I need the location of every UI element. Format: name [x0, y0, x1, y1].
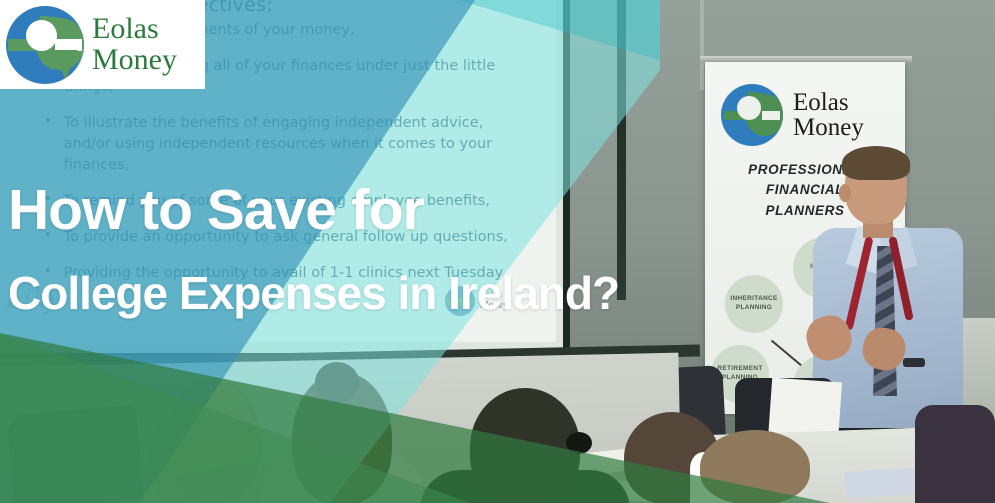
hero-headline-line2: College Expenses in Ireland?	[8, 270, 619, 316]
presentation-hero-image: y - Objectives: • l tips for all 10 elem…	[0, 0, 995, 503]
eolas-money-wordmark: Eolas Money	[92, 14, 177, 75]
banner-brand-name: Eolas Money	[793, 90, 864, 140]
banner-logo: Eolas Money	[705, 62, 905, 146]
eolas-money-logo-icon	[721, 84, 783, 146]
brand-name-line2: Money	[92, 45, 177, 76]
eolas-money-logo-icon	[6, 6, 84, 84]
office-chair	[915, 405, 995, 503]
diagram-node-inheritance: INHERITANCE PLANNING	[725, 275, 783, 333]
banner-brand-line1: Eolas	[793, 90, 864, 115]
banner-brand-line2: Money	[793, 115, 864, 140]
eolas-money-logo-block[interactable]: Eolas Money	[0, 0, 205, 89]
paper-sheet	[844, 468, 915, 498]
brand-name-line1: Eolas	[92, 14, 177, 45]
hero-headline-line1: How to Save for	[8, 182, 619, 239]
wall-seam-secondary	[700, 0, 704, 90]
hero-headline: How to Save for College Expenses in Irel…	[8, 182, 619, 316]
